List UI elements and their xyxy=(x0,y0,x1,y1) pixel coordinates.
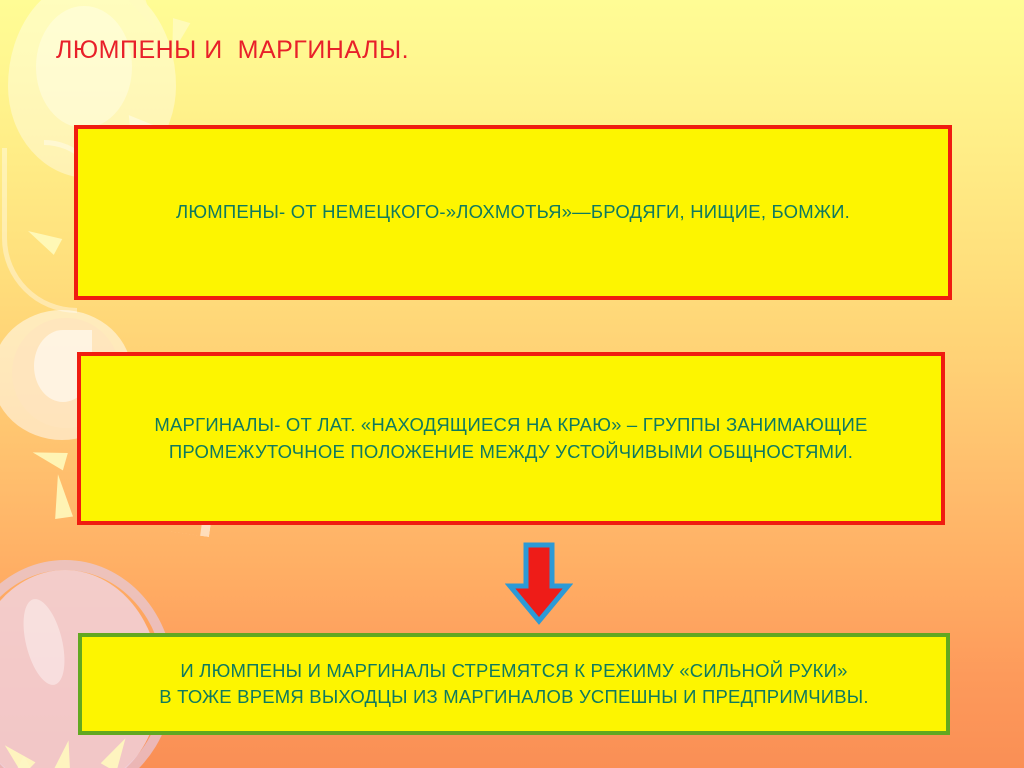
confetti-triangle-icon xyxy=(24,223,62,255)
confetti-triangle-icon xyxy=(0,739,35,768)
slide-title: ЛЮМПЕНЫ И МАРГИНАЛЫ. xyxy=(56,36,409,65)
confetti-triangle-icon xyxy=(101,734,134,768)
marginal-definition-box: МАРГИНАЛЫ- ОТ ЛАТ. «НАХОДЯЩИЕСЯ НА КРАЮ»… xyxy=(77,352,945,525)
confetti-triangle-icon xyxy=(30,444,68,471)
confetti-triangle-icon xyxy=(53,739,78,768)
down-arrow-shape xyxy=(510,545,568,621)
conclusion-box: И ЛЮМПЕНЫ И МАРГИНАЛЫ СТРЕМЯТСЯ К РЕЖИМУ… xyxy=(78,633,950,735)
balloon-bottom-tail-icon xyxy=(10,756,38,768)
balloon-string-icon xyxy=(2,148,77,313)
balloon-top-highlight-icon xyxy=(36,6,132,128)
confetti-triangle-icon xyxy=(49,473,73,519)
lumpen-definition-text: ЛЮМПЕНЫ- ОТ НЕМЕЦКОГО-»ЛОХМОТЬЯ»—БРОДЯГИ… xyxy=(166,199,860,225)
slide-canvas: ЛЮМПЕНЫ И МАРГИНАЛЫ. ЛЮМПЕНЫ- ОТ НЕМЕЦКО… xyxy=(0,0,1024,768)
lumpen-definition-box: ЛЮМПЕНЫ- ОТ НЕМЕЦКОГО-»ЛОХМОТЬЯ»—БРОДЯГИ… xyxy=(74,125,952,300)
marginal-definition-text: МАРГИНАЛЫ- ОТ ЛАТ. «НАХОДЯЩИЕСЯ НА КРАЮ»… xyxy=(144,412,877,465)
confetti-triangle-icon xyxy=(126,0,164,36)
conclusion-text: И ЛЮМПЕНЫ И МАРГИНАЛЫ СТРЕМЯТСЯ К РЕЖИМУ… xyxy=(149,658,878,711)
down-arrow-icon xyxy=(505,542,573,626)
balloon-bottom-highlight-icon xyxy=(16,595,72,689)
